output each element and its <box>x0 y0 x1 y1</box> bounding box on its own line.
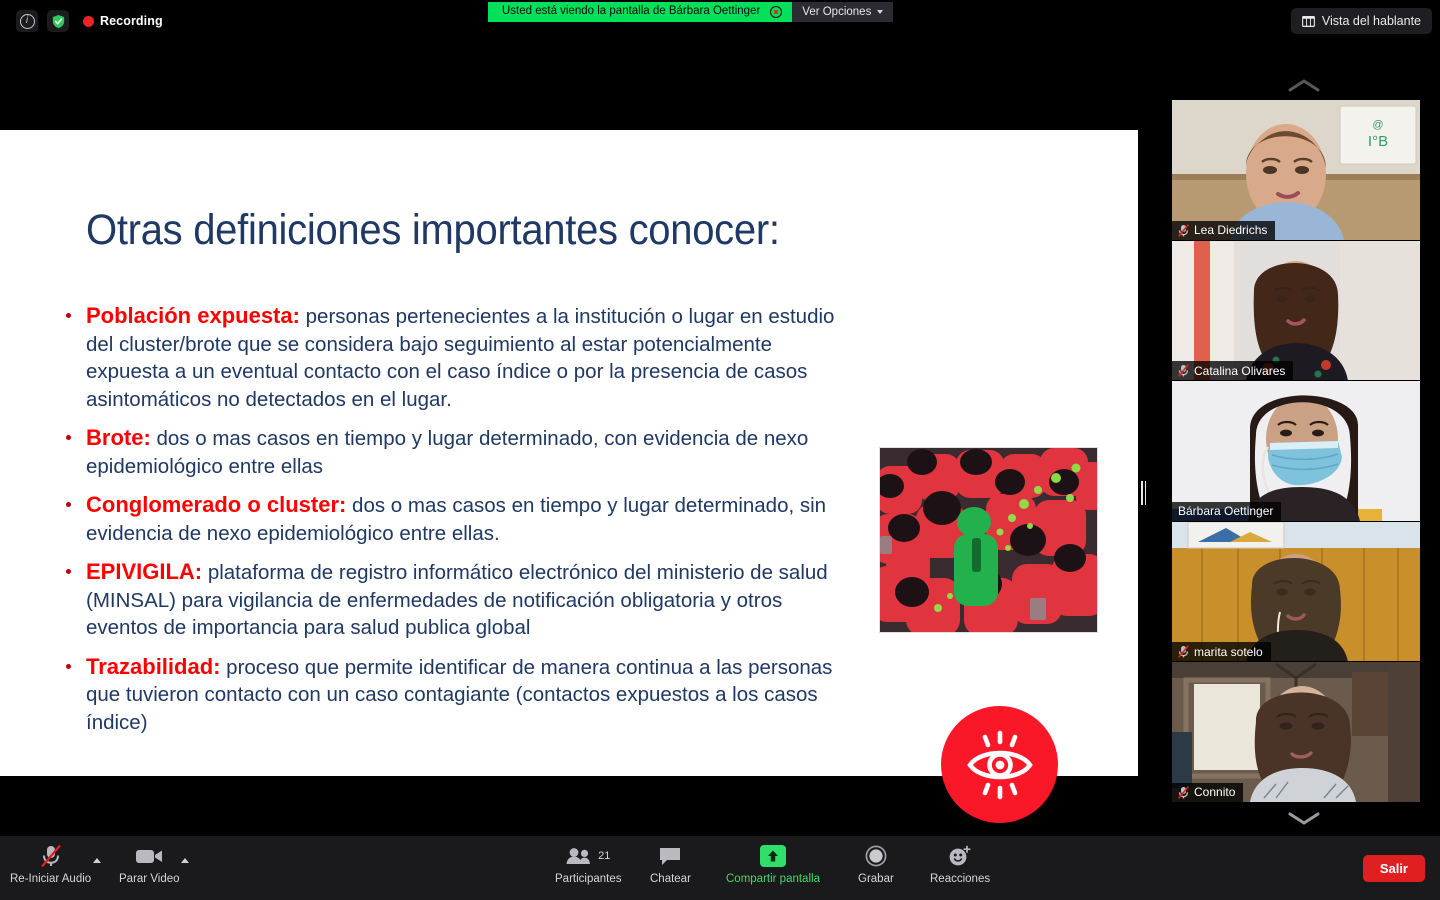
speaker-view-label: Vista del hablante <box>1322 14 1421 28</box>
participant-name-badge: marita sotelo <box>1172 642 1271 661</box>
recording-indicator: Recording <box>83 14 163 28</box>
screen-share-notice: Usted está viendo la pantalla de Bárbara… <box>488 2 792 22</box>
chevron-down-icon <box>877 10 883 14</box>
stop-share-icon[interactable] <box>770 6 782 18</box>
bullet-term: EPIVIGILA: <box>86 559 202 584</box>
bullet-epivigila: EPIVIGILA: plataforma de registro inform… <box>58 558 848 642</box>
meeting-top-bar: i Recording Usted está viendo la pantall… <box>0 0 1440 44</box>
recording-label: Recording <box>100 14 163 28</box>
bullet-text: dos o mas casos en tiempo y lugar determ… <box>86 427 808 478</box>
bullet-poblacion-expuesta: Población expuesta: personas pertenecien… <box>58 302 854 413</box>
leave-meeting-button[interactable]: Salir <box>1363 855 1425 882</box>
meeting-toolbar: Re-Iniciar Audio Parar Video 21 <box>0 836 1440 900</box>
svg-text:@: @ <box>1372 119 1383 131</box>
bullet-term: Brote: <box>86 425 151 450</box>
participants-label: Participantes <box>555 873 621 885</box>
participant-name-badge: Lea Diedrichs <box>1172 221 1275 240</box>
audio-button[interactable]: Re-Iniciar Audio <box>10 844 91 892</box>
video-options-chevron-icon[interactable] <box>181 858 189 863</box>
recording-dot-icon <box>83 16 94 27</box>
bullet-term: Población expuesta: <box>86 303 300 328</box>
zoom-meeting-window: i Recording Usted está viendo la pantall… <box>0 0 1440 900</box>
participant-tile[interactable]: marita sotelo <box>1172 522 1420 662</box>
presentation-slide: Otras definiciones importantes conocer: … <box>0 130 1138 776</box>
participant-filmstrip: @ I°B <box>1168 44 1440 836</box>
reactions-label: Reacciones <box>930 873 990 885</box>
bullet-term: Conglomerado o cluster: <box>86 492 346 517</box>
muted-mic-icon <box>1178 645 1189 658</box>
bullet-conglomerado: Conglomerado o cluster: dos o mas casos … <box>58 491 858 547</box>
chevron-down-icon[interactable] <box>1168 796 1440 840</box>
slide-bullet-list: Población expuesta: personas pertenecien… <box>58 302 858 747</box>
record-circle-icon <box>865 844 887 868</box>
surveillance-eye-icon <box>941 706 1058 823</box>
record-label: Grabar <box>858 873 894 885</box>
speaker-view-button[interactable]: Vista del hablante <box>1291 8 1432 34</box>
slide-title: Otras definiciones importantes conocer: <box>86 206 780 255</box>
participant-tile[interactable]: Catalina Olivares <box>1172 241 1420 381</box>
reactions-button[interactable]: Reacciones <box>930 844 990 892</box>
svg-text:I°B: I°B <box>1368 133 1388 150</box>
muted-mic-icon <box>1178 364 1189 377</box>
participant-name: Catalina Olivares <box>1194 364 1285 378</box>
screen-share-text: Usted está viendo la pantalla de Bárbara… <box>502 6 760 18</box>
muted-mic-icon <box>1178 224 1189 237</box>
participants-icon: 21 <box>566 844 610 868</box>
chat-label: Chatear <box>650 873 691 885</box>
shared-screen-area: Otras definiciones importantes conocer: … <box>0 44 1168 836</box>
top-bar-left-group: i Recording <box>16 10 163 32</box>
crowd-illustration <box>879 447 1098 633</box>
encryption-shield-icon[interactable] <box>47 10 69 32</box>
participant-name: marita sotelo <box>1194 645 1263 659</box>
record-button[interactable]: Grabar <box>858 844 894 892</box>
participant-name: Bárbara Oettinger <box>1178 504 1273 518</box>
audio-label: Re-Iniciar Audio <box>10 873 91 885</box>
participants-count: 21 <box>598 850 610 862</box>
participant-tile[interactable]: Bárbara Oettinger <box>1172 381 1420 521</box>
video-label: Parar Video <box>119 873 180 885</box>
participant-name-badge: Bárbara Oettinger <box>1172 502 1281 521</box>
screen-share-banner: Usted está viendo la pantalla de Bárbara… <box>488 2 893 22</box>
participant-tiles: @ I°B <box>1172 100 1422 803</box>
view-options-label: Ver Opciones <box>802 6 871 18</box>
muted-microphone-icon <box>40 844 62 868</box>
bullet-term: Trazabilidad: <box>86 654 220 679</box>
participant-name-badge: Catalina Olivares <box>1172 361 1293 380</box>
audio-options-chevron-icon[interactable] <box>93 858 101 863</box>
share-screen-label: Compartir pantalla <box>726 873 820 885</box>
share-screen-icon <box>760 844 786 868</box>
info-circle-icon[interactable]: i <box>16 10 38 32</box>
share-screen-button[interactable]: Compartir pantalla <box>726 844 820 892</box>
bullet-trazabilidad: Trazabilidad: proceso que permite identi… <box>58 653 848 737</box>
chat-bubble-icon <box>658 844 682 868</box>
participants-button[interactable]: 21 Participantes <box>555 844 621 892</box>
chat-button[interactable]: Chatear <box>650 844 691 892</box>
bullet-brote: Brote: dos o mas casos en tiempo y lugar… <box>58 424 838 480</box>
participant-tile[interactable]: @ I°B <box>1172 100 1420 240</box>
video-button[interactable]: Parar Video <box>119 844 180 892</box>
view-options-button[interactable]: Ver Opciones <box>792 2 893 22</box>
reactions-smiley-icon <box>948 844 972 868</box>
video-camera-icon <box>135 844 163 868</box>
participant-name: Lea Diedrichs <box>1194 223 1267 237</box>
participant-tile[interactable]: Connito <box>1172 662 1420 802</box>
share-resize-handle[interactable] <box>1140 480 1147 506</box>
